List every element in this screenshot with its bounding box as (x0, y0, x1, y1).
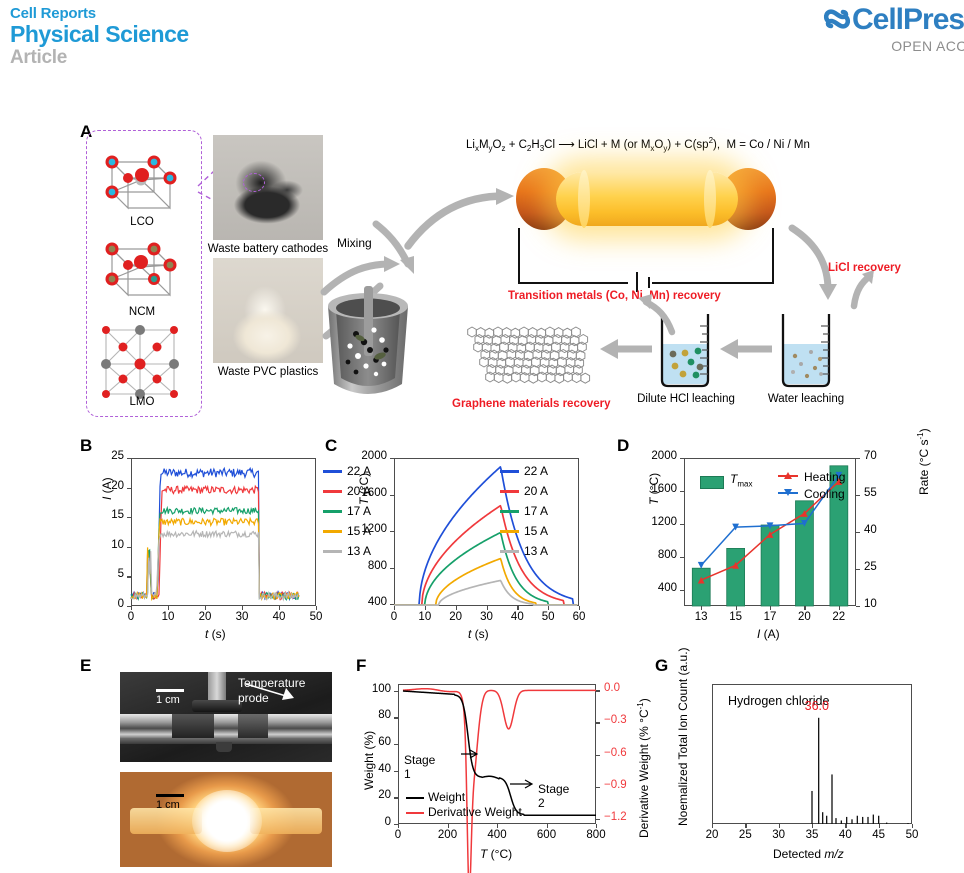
chart-f-ylabel: Weight (%) (362, 731, 376, 790)
axis-tick-label: 40 (864, 524, 877, 536)
axis-tick-label: 400 (658, 582, 677, 594)
photo-caption-cathodes: Waste battery cathodes (200, 243, 336, 255)
axis-tick-mark (804, 606, 805, 610)
callout-licl-recovery: LiCl recovery (828, 262, 901, 274)
axis-tick-mark (736, 606, 737, 610)
axis-tick-label: 55 (864, 487, 877, 499)
axis-tick-mark (448, 824, 449, 828)
legend-label: Derivative Weight (428, 805, 522, 819)
axis-tick-mark (425, 606, 426, 610)
panel-label-g: G (655, 656, 668, 676)
axis-tick-mark (596, 722, 600, 723)
axis-tick-label: 20 (706, 829, 719, 841)
peak-value-label: 36.0 (805, 699, 829, 713)
axis-tick-mark (390, 495, 394, 496)
crystal-label-lco: LCO (96, 216, 188, 228)
axis-tick-label: 800 (586, 829, 605, 841)
axis-tick-label: 0 (118, 598, 124, 610)
axis-tick-mark (127, 576, 131, 577)
photo-caption-pvc: Waste PVC plastics (203, 366, 333, 378)
axis-tick-label: 20 (449, 611, 462, 623)
legend-label: 17 A (347, 504, 371, 518)
chart-c-xlabel: t (s) (468, 627, 489, 641)
panel-label-e: E (80, 656, 91, 676)
axis-tick-mark (596, 690, 600, 691)
crystal-ncm-diagram (96, 233, 188, 311)
axis-tick-label: 45 (872, 829, 885, 841)
axis-tick-mark (856, 569, 860, 570)
axis-tick-label: 40 (273, 611, 286, 623)
legend-swatch (500, 510, 519, 513)
graphene-sheet-illustration (460, 318, 590, 394)
axis-tick-label: 10 (418, 611, 431, 623)
mixing-label: Mixing (337, 236, 372, 250)
cellpress-wordmark: CellPress (852, 4, 964, 36)
chart-f-xlabel: T (°C) (480, 847, 512, 861)
legend-swatch-tmax (700, 476, 724, 489)
crystal-label-ncm: NCM (96, 306, 188, 318)
chart-f-y2label: Derivative Weight (% °C-1) (636, 698, 651, 838)
axis-tick-mark (845, 824, 846, 828)
axis-tick-mark (394, 797, 398, 798)
axis-tick-label: 20 (378, 789, 391, 801)
axis-tick-mark (856, 495, 860, 496)
chart-d-ylabel: T (°C) (647, 473, 661, 505)
axis-tick-label: 70 (864, 450, 877, 462)
axis-tick-label: 60 (378, 736, 391, 748)
legend-marker (784, 472, 792, 479)
legend-label: 15 A (524, 524, 548, 538)
battery-symbol-long-plate (636, 272, 638, 292)
axis-tick-mark (497, 824, 498, 828)
axis-tick-mark (487, 606, 488, 610)
axis-tick-label: 35 (806, 829, 819, 841)
axis-tick-mark (856, 458, 860, 459)
axis-tick-label: 100 (372, 683, 391, 695)
axis-tick-mark (770, 606, 771, 610)
axis-tick-label: 0 (385, 816, 391, 828)
axis-tick-label: 400 (368, 596, 387, 608)
axis-tick-label: 30 (480, 611, 493, 623)
axis-tick-label: 15 (729, 611, 742, 623)
legend-label: Weight (428, 790, 465, 804)
cellpress-logo: CellPress OPEN ACCESS (822, 4, 964, 36)
article-type-label: Article (10, 47, 189, 69)
legend-swatch (323, 530, 342, 533)
axis-tick-label: 20 (199, 611, 212, 623)
axis-tick-label: 15 (111, 509, 124, 521)
axis-tick-label: −0.6 (604, 747, 627, 759)
axis-tick-label: 0 (391, 611, 397, 623)
axis-tick-mark (680, 524, 684, 525)
cellpress-mark-icon (822, 4, 852, 34)
journal-name-line1: Cell Reports (10, 6, 189, 22)
axis-tick-mark (168, 606, 169, 610)
axis-tick-label: 50 (542, 611, 555, 623)
axis-tick-mark (394, 744, 398, 745)
axis-tick-label: 25 (111, 450, 124, 462)
axis-tick-mark (879, 824, 880, 828)
arrow-hcl-to-graphene (596, 338, 654, 360)
axis-tick-mark (205, 606, 206, 610)
axis-tick-label: 30 (772, 829, 785, 841)
circuit-wire-left (518, 228, 520, 284)
legend-label: 17 A (524, 504, 548, 518)
panel-label-b: B (80, 436, 92, 456)
axis-tick-mark (390, 531, 394, 532)
circuit-wire-right (772, 228, 774, 284)
axis-tick-label: −0.3 (604, 714, 627, 726)
journal-name-line2: Physical Science (10, 22, 189, 47)
crystal-lco-diagram (96, 140, 188, 218)
axis-tick-mark (596, 787, 600, 788)
axis-tick-mark (912, 824, 913, 828)
axis-tick-mark (390, 568, 394, 569)
legend-label: 22 A (524, 464, 548, 478)
chart-b-xlabel: t (s) (205, 627, 226, 641)
axis-tick-label: 0 (395, 829, 401, 841)
callout-graphene-recovery: Graphene materials recovery (452, 398, 611, 410)
crystal-lmo-diagram (96, 322, 188, 400)
legend-marker (784, 489, 792, 496)
axis-tick-mark (779, 824, 780, 828)
axis-tick-mark (856, 532, 860, 533)
axis-tick-mark (680, 557, 684, 558)
axis-tick-mark (131, 606, 132, 610)
battery-symbol-short-plate (648, 277, 650, 288)
axis-tick-label: 60 (573, 611, 586, 623)
legend-swatch (323, 470, 342, 473)
axis-tick-label: 20 (798, 611, 811, 623)
axis-tick-mark (856, 606, 860, 607)
axis-tick-mark (394, 771, 398, 772)
annotation-stage-2: Stage 2 (538, 782, 569, 810)
arrow-hcl-to-metals (636, 292, 680, 336)
legend-label: Heating (804, 470, 845, 484)
chart-g-ylabel: Noemalized Total Ion Count (a.u.) (676, 647, 690, 826)
arrow-water-to-licl (840, 268, 874, 308)
axis-tick-mark (701, 606, 702, 610)
axis-tick-mark (127, 547, 131, 548)
axis-tick-label: 400 (487, 829, 506, 841)
temperature-probe-label: Temperatureprode (238, 676, 305, 706)
axis-tick-label: 50 (906, 829, 919, 841)
legend-label: Cooling (804, 487, 845, 501)
axis-tick-label: 10 (864, 598, 877, 610)
reaction-equation: LixMyOz + C2H3Cl ⟶ LiCl + M (or MxOy) + … (466, 136, 810, 153)
legend-swatch (406, 812, 424, 814)
axis-tick-mark (390, 458, 394, 459)
panel-label-f: F (356, 656, 366, 676)
mortar-mixing-vessel (320, 272, 416, 404)
axis-tick-mark (839, 606, 840, 610)
chart-c-ylabel: T (°C) (357, 473, 371, 505)
axis-tick-label: 17 (764, 611, 777, 623)
axis-tick-label: 25 (739, 829, 752, 841)
axis-tick-mark (127, 488, 131, 489)
axis-tick-mark (279, 606, 280, 610)
arrow-water-to-hcl (718, 338, 774, 360)
panel-label-d: D (617, 436, 629, 456)
axis-tick-label: −0.9 (604, 779, 627, 791)
axis-tick-mark (548, 606, 549, 610)
axis-tick-label: 40 (839, 829, 852, 841)
legend-swatch (500, 550, 519, 553)
axis-tick-mark (596, 819, 600, 820)
axis-tick-mark (394, 691, 398, 692)
axis-tick-label: 10 (111, 539, 124, 551)
axis-tick-label: 200 (438, 829, 457, 841)
axis-tick-mark (394, 606, 395, 610)
axis-tick-label: 600 (537, 829, 556, 841)
legend-swatch (500, 490, 519, 493)
axis-tick-label: 40 (378, 763, 391, 775)
axis-tick-label: 10 (162, 611, 175, 623)
axis-tick-mark (547, 824, 548, 828)
chart-b-current-vs-time (131, 458, 316, 606)
photo-waste-pvc-plastics (213, 258, 323, 363)
axis-tick-label: 800 (658, 549, 677, 561)
axis-tick-mark (680, 458, 684, 459)
axis-tick-label: 25 (864, 561, 877, 573)
chart-g-xlabel: Detected m/z (773, 847, 844, 861)
axis-tick-label: 80 (378, 709, 391, 721)
axis-tick-mark (680, 590, 684, 591)
axis-tick-mark (398, 824, 399, 828)
legend-swatch (406, 797, 424, 799)
axis-tick-label: 0.0 (604, 682, 620, 694)
axis-tick-label: 50 (310, 611, 323, 623)
legend-swatch (500, 470, 519, 473)
photo-waste-battery-cathodes (213, 135, 323, 240)
axis-tick-mark (316, 606, 317, 610)
axis-tick-label: 30 (236, 611, 249, 623)
axis-tick-mark (712, 824, 713, 828)
crystal-label-lmo: LMO (96, 396, 188, 408)
legend-swatch (500, 530, 519, 533)
legend-swatch (323, 490, 342, 493)
circuit-wire-bottom-left (518, 282, 628, 284)
label-water-leaching: Water leaching (750, 393, 862, 405)
axis-tick-mark (127, 517, 131, 518)
axis-tick-mark (596, 755, 600, 756)
chart-c-temperature-vs-time (394, 458, 579, 606)
axis-tick-label: 22 (832, 611, 845, 623)
panel-label-c: C (325, 436, 337, 456)
photo-reactor-flash-glow: 1 cm (120, 772, 332, 867)
legend-swatch (323, 550, 342, 553)
axis-tick-label: 13 (695, 611, 708, 623)
axis-tick-label: 2000 (361, 450, 387, 462)
chart-b-ylabel: I (A) (100, 477, 114, 500)
axis-tick-label: 800 (368, 560, 387, 572)
axis-tick-mark (242, 606, 243, 610)
axis-tick-label: 40 (511, 611, 524, 623)
annotation-stage-1: Stage 1 (404, 753, 435, 781)
journal-masthead: Cell Reports Physical Science Article (10, 6, 189, 69)
axis-tick-mark (812, 824, 813, 828)
arrow-mortar-to-reactor (400, 186, 520, 256)
axis-tick-label: 2000 (651, 450, 677, 462)
beaker-water-leaching (775, 312, 837, 390)
photo-reactor-tube-assembly: 1 cm Temperatureprode (120, 672, 332, 762)
legend-swatch (323, 510, 342, 513)
legend-label-tmax: Tmax (730, 472, 752, 488)
axis-tick-mark (579, 606, 580, 610)
legend-label: 13 A (347, 544, 371, 558)
arrow-reactor-to-water (786, 222, 846, 298)
chart-d-xlabel: I (A) (757, 627, 780, 641)
axis-tick-mark (745, 824, 746, 828)
axis-tick-mark (517, 606, 518, 610)
axis-tick-label: 1200 (361, 523, 387, 535)
axis-tick-mark (394, 717, 398, 718)
axis-tick-mark (127, 458, 131, 459)
label-hcl-leaching: Dilute HCl leaching (630, 393, 742, 405)
chart-d-y2label: Rate (°C s-1) (916, 428, 931, 495)
legend-label: 13 A (524, 544, 548, 558)
axis-tick-mark (680, 491, 684, 492)
axis-tick-label: 1200 (651, 516, 677, 528)
axis-tick-mark (596, 824, 597, 828)
axis-tick-mark (456, 606, 457, 610)
legend-label: 20 A (524, 484, 548, 498)
circuit-wire-bottom-right (652, 282, 774, 284)
axis-tick-label: 5 (118, 568, 124, 580)
flash-joule-heating-reactor (516, 168, 776, 230)
axis-tick-label: 0 (128, 611, 134, 623)
open-access-label: OPEN ACCESS (891, 38, 964, 54)
callout-transition-metals: Transition metals (Co, Ni, Mn) recovery (508, 290, 721, 302)
axis-tick-label: −1.2 (604, 811, 627, 823)
